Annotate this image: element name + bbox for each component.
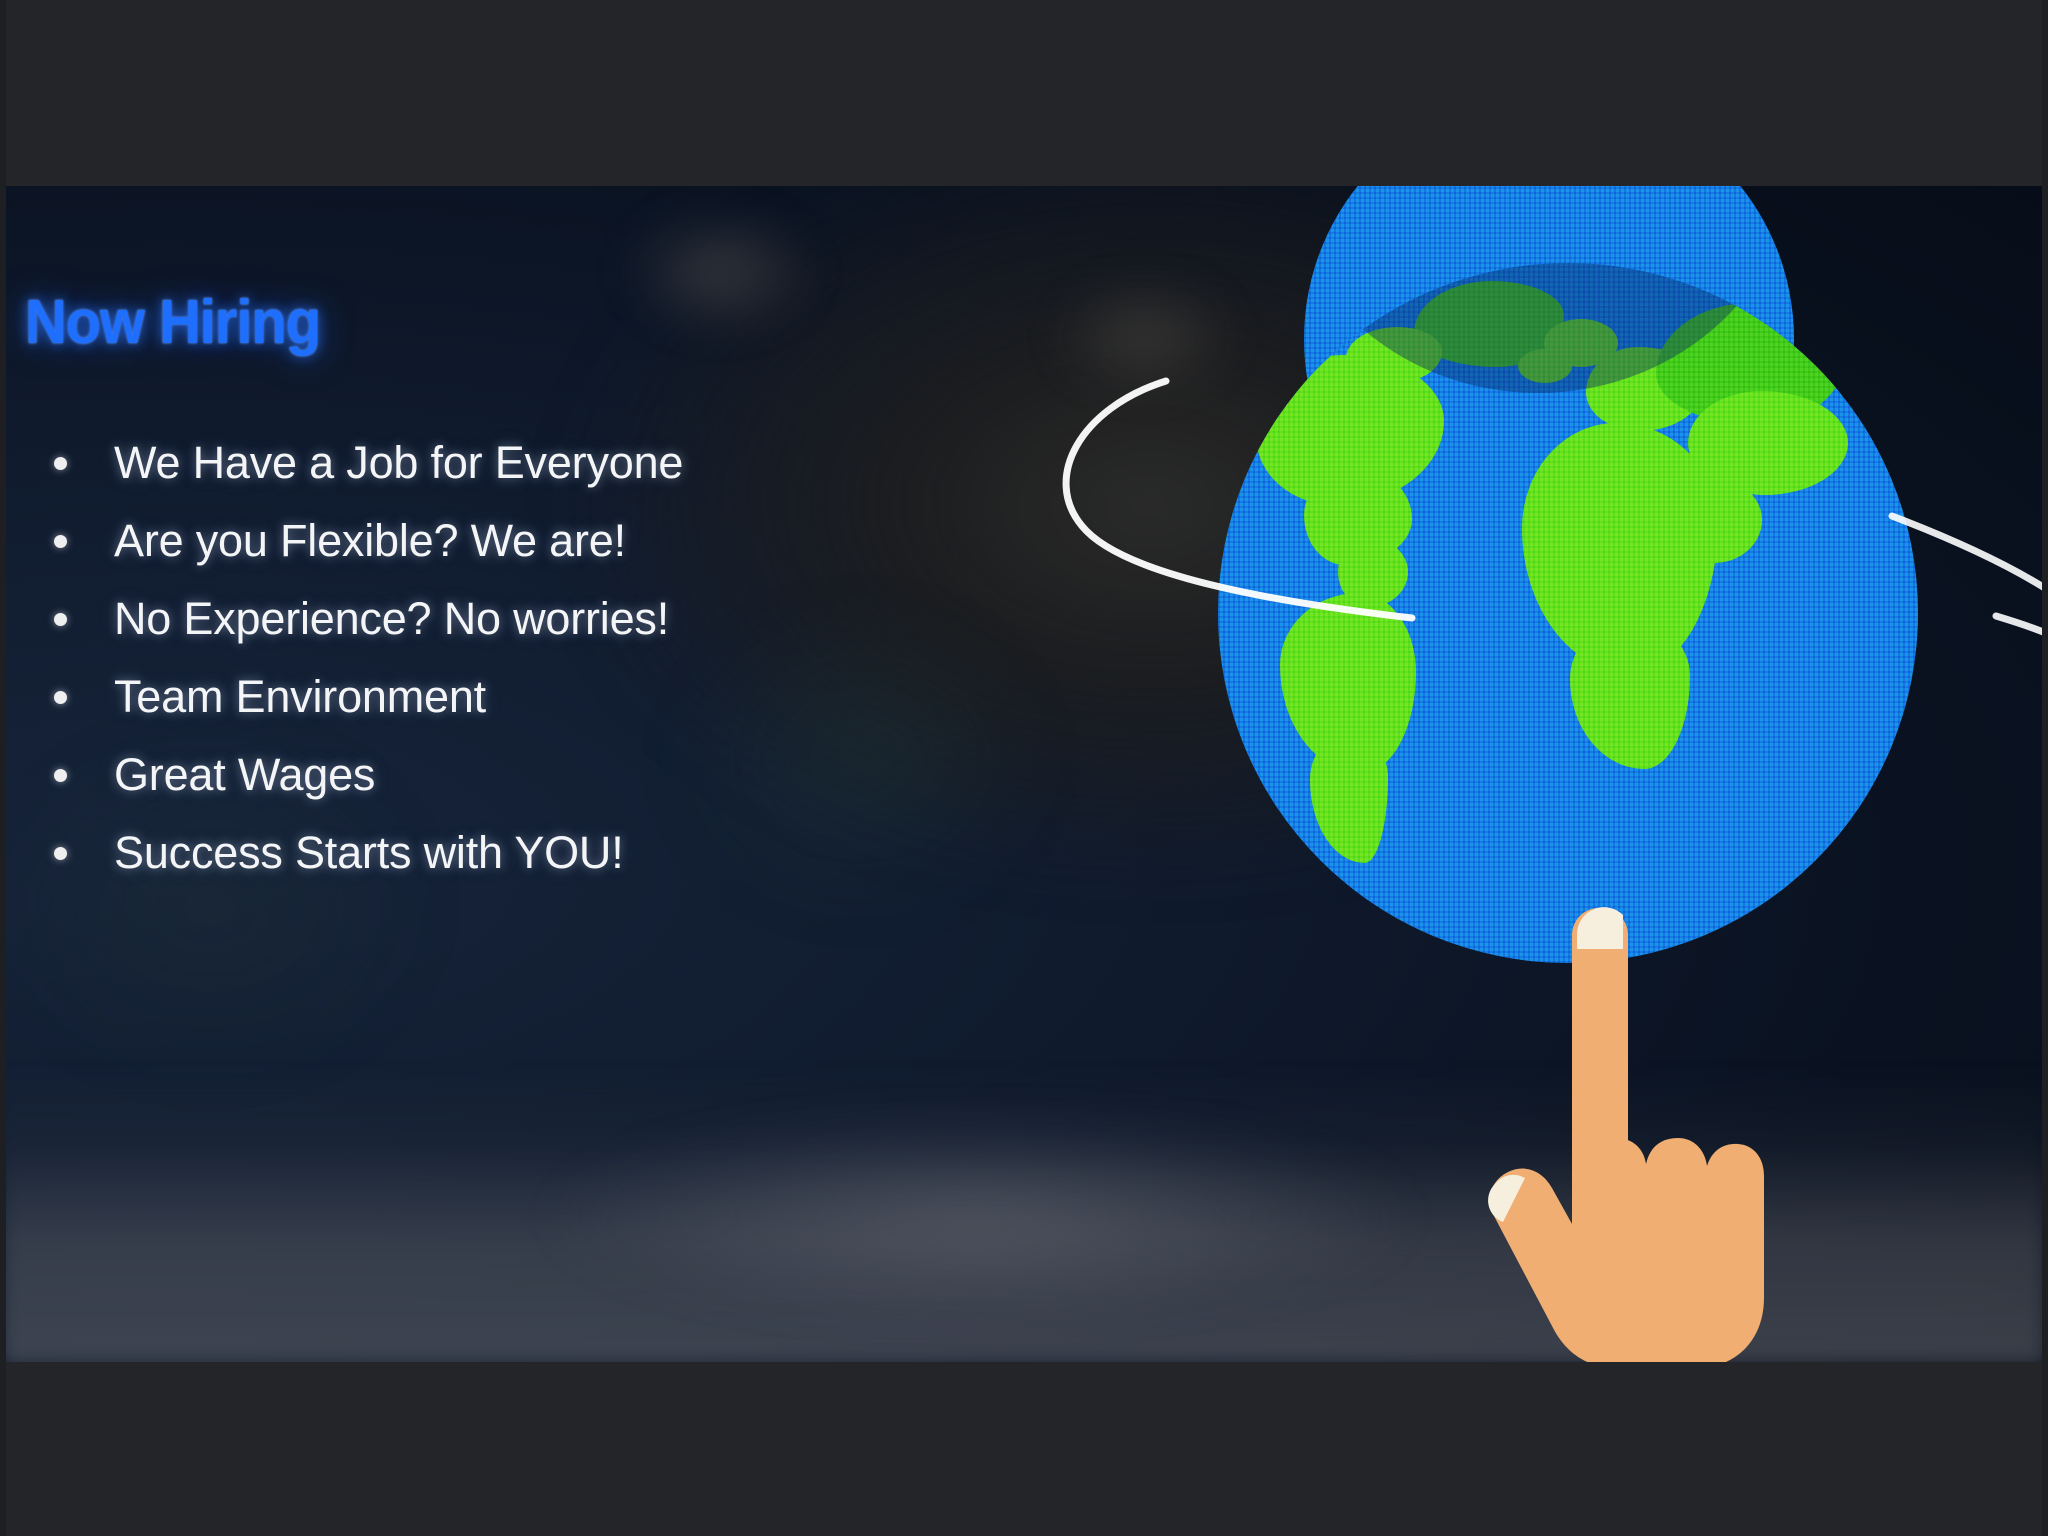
bullet-dot-icon xyxy=(48,457,114,470)
globe-overlap-shadow xyxy=(1218,263,1918,963)
pointing-up-hand-icon xyxy=(1448,898,1788,1362)
list-item: Success Starts with YOU! xyxy=(48,814,868,892)
globe-icon xyxy=(1304,186,1794,584)
presentation-slide: Now Hiring We Have a Job for Everyone Ar… xyxy=(0,186,2048,1362)
page-title: Now Hiring xyxy=(25,287,320,358)
list-item-label: We Have a Job for Everyone xyxy=(114,437,683,489)
pixel-grid-texture xyxy=(1304,186,1794,584)
list-item-label: Success Starts with YOU! xyxy=(114,827,624,879)
letterbox-left xyxy=(0,0,6,1536)
list-item: No Experience? No worries! xyxy=(48,580,868,658)
list-item-label: No Experience? No worries! xyxy=(114,593,669,645)
list-item: Team Environment xyxy=(48,658,868,736)
list-item: Are you Flexible? We are! xyxy=(48,502,868,580)
bullet-dot-icon xyxy=(48,847,114,860)
list-item: Great Wages xyxy=(48,736,868,814)
pixel-grid-texture xyxy=(1218,263,1918,963)
bullet-dot-icon xyxy=(48,613,114,626)
screen-glare xyxy=(1050,276,1240,396)
letterbox-bottom xyxy=(0,1362,2048,1536)
screen-photo: Now Hiring We Have a Job for Everyone Ar… xyxy=(0,0,2048,1536)
list-item: We Have a Job for Everyone xyxy=(48,424,868,502)
bullet-dot-icon xyxy=(48,769,114,782)
bullet-dot-icon xyxy=(48,691,114,704)
list-item-label: Are you Flexible? We are! xyxy=(114,515,626,567)
bullet-list: We Have a Job for Everyone Are you Flexi… xyxy=(48,424,868,892)
letterbox-top xyxy=(0,0,2048,186)
bullet-dot-icon xyxy=(48,535,114,548)
letterbox-right xyxy=(2042,0,2048,1536)
slide-text-column: Now Hiring We Have a Job for Everyone Ar… xyxy=(0,186,900,1362)
globe-icon xyxy=(1218,263,1918,963)
list-item-label: Great Wages xyxy=(114,749,375,801)
list-item-label: Team Environment xyxy=(114,671,486,723)
